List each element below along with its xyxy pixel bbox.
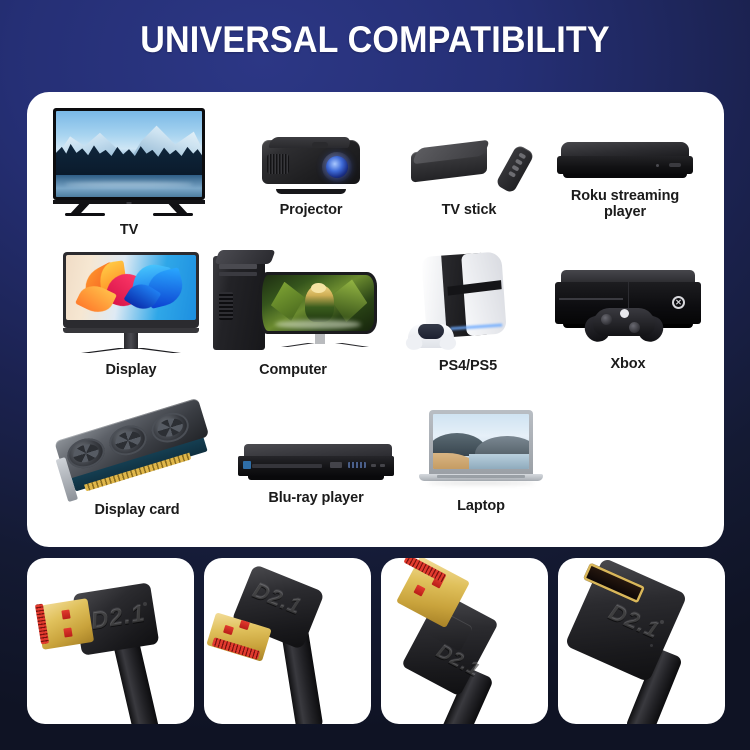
tv-icon xyxy=(49,108,209,216)
monitor-icon xyxy=(51,252,211,356)
device-item-display-card: Display card xyxy=(49,410,225,518)
gallery-panel-female-receptacle[interactable]: D2.1 xyxy=(558,558,725,724)
gallery-panel-down-angled-male[interactable]: D2.1 xyxy=(204,558,371,724)
device-item-display: Display xyxy=(51,252,211,378)
graphics-card-icon xyxy=(49,410,225,496)
bluray-player-icon xyxy=(223,422,409,484)
device-label: Xbox xyxy=(610,356,645,372)
device-item-tv: TV xyxy=(49,108,209,238)
gallery-panel-left-angled-male[interactable]: D2.1 xyxy=(27,558,194,724)
red-key-a xyxy=(61,609,70,619)
device-item-roku: Roku streaming player xyxy=(539,140,711,220)
red-key-b xyxy=(63,627,72,637)
product-gallery: D2.1 D2.1 xyxy=(27,558,724,724)
device-label: TV stick xyxy=(442,202,497,218)
xbox-console-icon xyxy=(545,264,711,350)
device-label: Computer xyxy=(259,362,327,378)
device-item-computer: Computer xyxy=(203,248,383,378)
device-label: PS4/PS5 xyxy=(439,358,497,374)
page-title: UNIVERSAL COMPATIBILITY xyxy=(30,19,720,61)
compatibility-card: TV Projector xyxy=(27,92,724,547)
gallery-panel-straight-male[interactable]: D2.1 xyxy=(381,558,548,724)
device-label: Projector xyxy=(280,202,343,218)
device-item-laptop: Laptop xyxy=(411,410,551,514)
device-item-bluray: Blu-ray player xyxy=(223,422,409,506)
device-item-xbox: Xbox xyxy=(545,264,711,372)
roku-streaming-player-icon xyxy=(539,140,711,182)
device-grid: TV Projector xyxy=(27,92,724,547)
device-label: TV xyxy=(120,222,138,238)
desktop-computer-icon xyxy=(203,248,383,356)
device-item-playstation: PS4/PS5 xyxy=(385,254,551,374)
device-item-tv-stick: TV stick xyxy=(389,134,549,218)
projector-icon xyxy=(225,134,397,196)
device-label: Display xyxy=(106,362,157,378)
playstation-console-icon xyxy=(385,254,551,352)
laptop-icon xyxy=(411,410,551,492)
device-label: Blu-ray player xyxy=(268,490,363,506)
promo-page: UNIVERSAL COMPATIBILITY TV xyxy=(0,0,750,750)
device-item-projector: Projector xyxy=(225,134,397,218)
tv-stick-icon xyxy=(389,134,549,196)
device-label: Laptop xyxy=(457,498,505,514)
device-label: Roku streaming player xyxy=(571,188,679,220)
